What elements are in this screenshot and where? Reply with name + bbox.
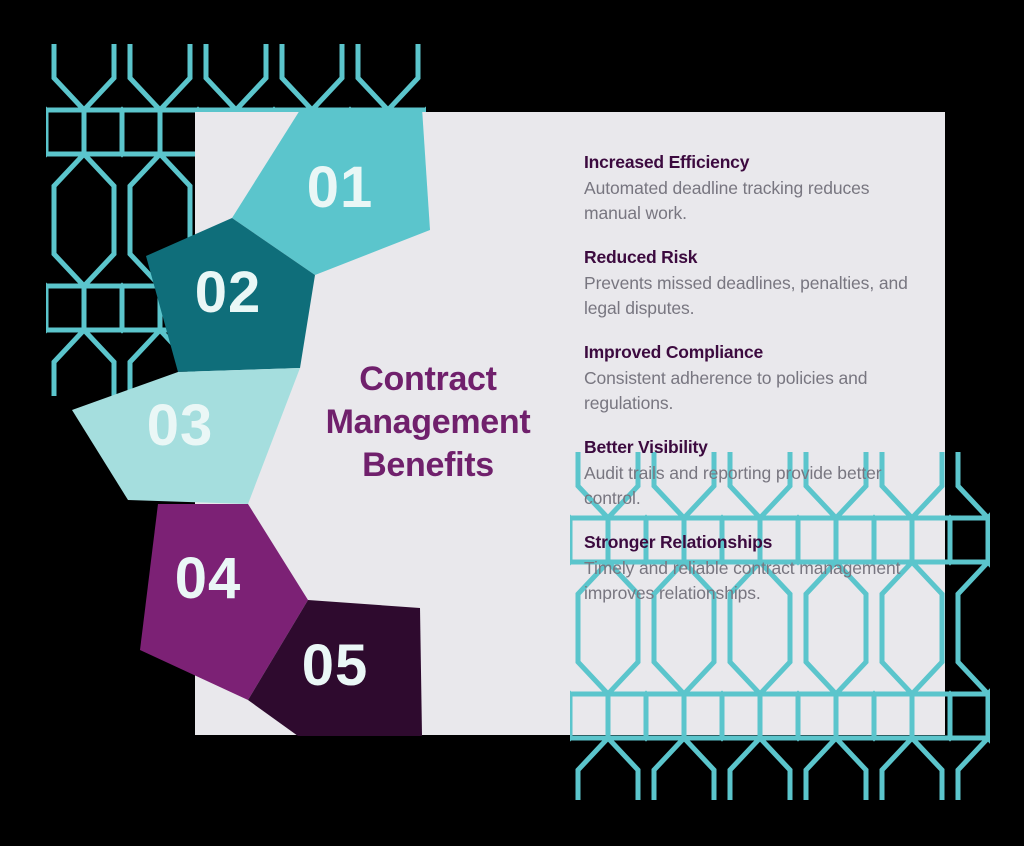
benefit-title-5: Stronger Relationships xyxy=(584,530,914,554)
benefit-description-3: Consistent adherence to policies and reg… xyxy=(584,366,914,416)
page-title-line-2: Management xyxy=(283,401,573,444)
benefit-item-3: Improved Compliance Consistent adherence… xyxy=(584,340,914,416)
benefit-title-3: Improved Compliance xyxy=(584,340,914,364)
step-number-05: 05 xyxy=(302,633,369,698)
infographic-canvas: 01 02 03 04 05 Contract Management Benef… xyxy=(0,0,1024,846)
benefit-description-4: Audit trails and reporting provide bette… xyxy=(584,461,914,511)
page-title-line-3: Benefits xyxy=(283,444,573,487)
benefit-title-1: Increased Efficiency xyxy=(584,150,914,174)
step-shape-03[interactable]: 03 xyxy=(72,368,300,504)
benefit-description-1: Automated deadline tracking reduces manu… xyxy=(584,176,914,226)
step-number-03: 03 xyxy=(147,393,214,458)
benefits-list: Increased Efficiency Automated deadline … xyxy=(584,150,914,606)
page-title-line-1: Contract xyxy=(283,358,573,401)
benefit-item-2: Reduced Risk Prevents missed deadlines, … xyxy=(584,245,914,321)
page-title: Contract Management Benefits xyxy=(283,358,573,487)
step-number-01: 01 xyxy=(307,155,374,220)
benefit-item-1: Increased Efficiency Automated deadline … xyxy=(584,150,914,226)
benefit-title-2: Reduced Risk xyxy=(584,245,914,269)
benefit-item-4: Better Visibility Audit trails and repor… xyxy=(584,435,914,511)
benefit-title-4: Better Visibility xyxy=(584,435,914,459)
benefit-description-2: Prevents missed deadlines, penalties, an… xyxy=(584,271,914,321)
step-number-04: 04 xyxy=(175,546,242,611)
benefit-description-5: Timely and reliable contract management … xyxy=(584,556,914,606)
step-number-02: 02 xyxy=(195,260,262,325)
benefit-item-5: Stronger Relationships Timely and reliab… xyxy=(584,530,914,606)
